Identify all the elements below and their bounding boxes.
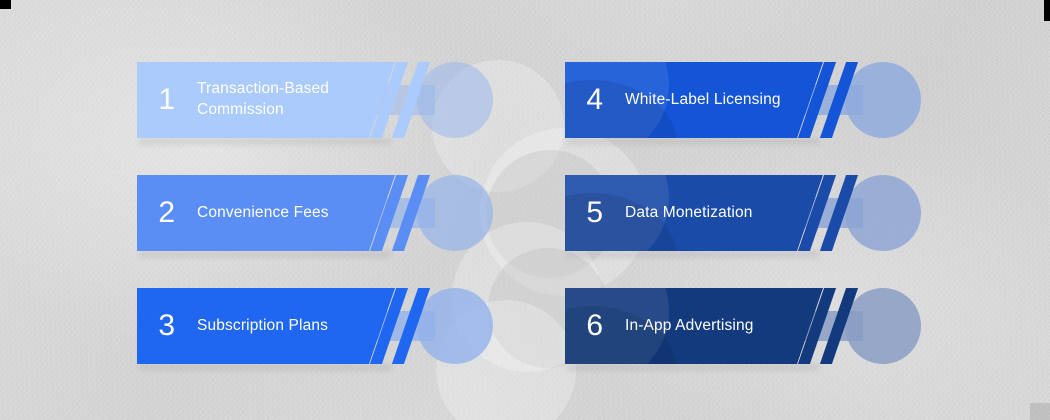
step-number: 3 [137,311,197,341]
bar-shadow [567,364,819,371]
step-label: Subscription Plans [197,316,348,337]
step-number: 6 [565,311,625,341]
pin-head-circle [417,62,493,138]
corner-mark-bottom-right [1030,403,1050,420]
step-label: In-App Advertising [625,316,774,337]
pin-head-circle [845,175,921,251]
step-number: 1 [137,85,197,115]
bar-shadow [567,251,819,258]
pin-head-circle [417,288,493,364]
infographic-canvas: 1Transaction-Based Commission2Convenienc… [0,0,1050,420]
step-bar[interactable]: 1Transaction-Based Commission [137,62,395,138]
step-bar[interactable]: 2Convenience Fees [137,175,395,251]
step-number: 2 [137,198,197,228]
bar-shadow [139,251,391,258]
step-row-2[interactable]: 2Convenience Fees [137,175,497,265]
step-row-4[interactable]: 4White-Label Licensing [565,62,925,152]
pin-head-circle [417,175,493,251]
step-row-5[interactable]: 5Data Monetization [565,175,925,265]
step-row-3[interactable]: 3Subscription Plans [137,288,497,378]
bar-shadow [139,364,391,371]
corner-mark-top-right [1044,0,1050,21]
corner-mark-top-left [0,0,11,9]
step-label: White-Label Licensing [625,90,801,111]
step-bar[interactable]: 6In-App Advertising [565,288,823,364]
step-label: Convenience Fees [197,203,349,224]
step-number: 4 [565,85,625,115]
step-number: 5 [565,198,625,228]
step-row-6[interactable]: 6In-App Advertising [565,288,925,378]
step-row-1[interactable]: 1Transaction-Based Commission [137,62,497,152]
step-label: Transaction-Based Commission [197,79,349,121]
step-bar[interactable]: 5Data Monetization [565,175,823,251]
bar-shadow [567,138,819,145]
pin-head-circle [845,288,921,364]
bar-shadow [139,138,391,145]
step-label: Data Monetization [625,203,772,224]
step-bar[interactable]: 4White-Label Licensing [565,62,823,138]
pin-head-circle [845,62,921,138]
step-bar[interactable]: 3Subscription Plans [137,288,395,364]
